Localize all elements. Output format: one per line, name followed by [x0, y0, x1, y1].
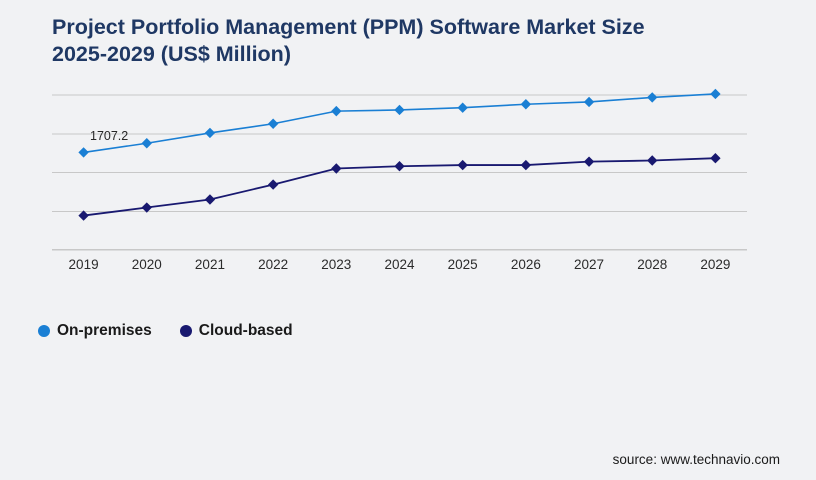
x-tick-label-2019: 2019: [54, 257, 114, 272]
data-point-marker[interactable]: [268, 179, 278, 189]
x-tick-label-2024: 2024: [370, 257, 430, 272]
data-point-marker[interactable]: [205, 194, 215, 204]
data-point-marker[interactable]: [142, 138, 152, 148]
x-axis-line: [52, 249, 747, 250]
x-tick-label-2029: 2029: [685, 257, 745, 272]
data-point-marker[interactable]: [647, 155, 657, 165]
data-point-marker[interactable]: [521, 160, 531, 170]
legend-label-cloud-based: Cloud-based: [199, 322, 293, 340]
data-point-marker[interactable]: [78, 147, 88, 157]
data-point-marker[interactable]: [394, 161, 404, 171]
data-point-marker[interactable]: [205, 128, 215, 138]
data-point-marker[interactable]: [710, 89, 720, 99]
data-point-marker[interactable]: [710, 153, 720, 163]
x-tick-label-2026: 2026: [496, 257, 556, 272]
legend-item-on-premises[interactable]: On-premises: [38, 322, 152, 340]
data-point-marker[interactable]: [394, 105, 404, 115]
circle-marker-icon: [38, 325, 50, 337]
chart-title-line-1: Project Portfolio Management (PPM) Softw…: [52, 14, 782, 41]
data-point-marker[interactable]: [521, 99, 531, 109]
data-point-marker[interactable]: [647, 92, 657, 102]
data-point-marker[interactable]: [457, 160, 467, 170]
circle-marker-icon: [180, 325, 192, 337]
chart-title-line-2: 2025-2029 (US$ Million): [52, 41, 782, 68]
data-point-marker[interactable]: [78, 210, 88, 220]
data-point-marker[interactable]: [457, 102, 467, 112]
chart-container: Project Portfolio Management (PPM) Softw…: [0, 0, 816, 480]
legend-label-on-premises: On-premises: [57, 322, 152, 340]
x-tick-label-2020: 2020: [117, 257, 177, 272]
series-line-on-premises: [84, 94, 716, 152]
x-axis: 2019202020212022202320242025202620272028…: [52, 249, 747, 279]
data-point-marker[interactable]: [331, 106, 341, 116]
legend-item-cloud-based[interactable]: Cloud-based: [180, 322, 293, 340]
data-point-marker[interactable]: [268, 119, 278, 129]
x-tick-label-2027: 2027: [559, 257, 619, 272]
x-tick-label-2022: 2022: [243, 257, 303, 272]
x-tick-label-2028: 2028: [622, 257, 682, 272]
plot-svg: [52, 95, 747, 250]
plot-area: 1707.2: [52, 95, 747, 250]
data-point-marker[interactable]: [584, 97, 594, 107]
data-point-marker[interactable]: [584, 156, 594, 166]
x-tick-label-2025: 2025: [433, 257, 493, 272]
x-tick-label-2023: 2023: [306, 257, 366, 272]
data-label-on-premises-2019: 1707.2: [90, 129, 128, 143]
x-tick-label-2021: 2021: [180, 257, 240, 272]
chart-legend: On-premises Cloud-based: [38, 322, 293, 340]
source-note: source: www.technavio.com: [613, 452, 780, 467]
chart-title: Project Portfolio Management (PPM) Softw…: [52, 14, 782, 68]
